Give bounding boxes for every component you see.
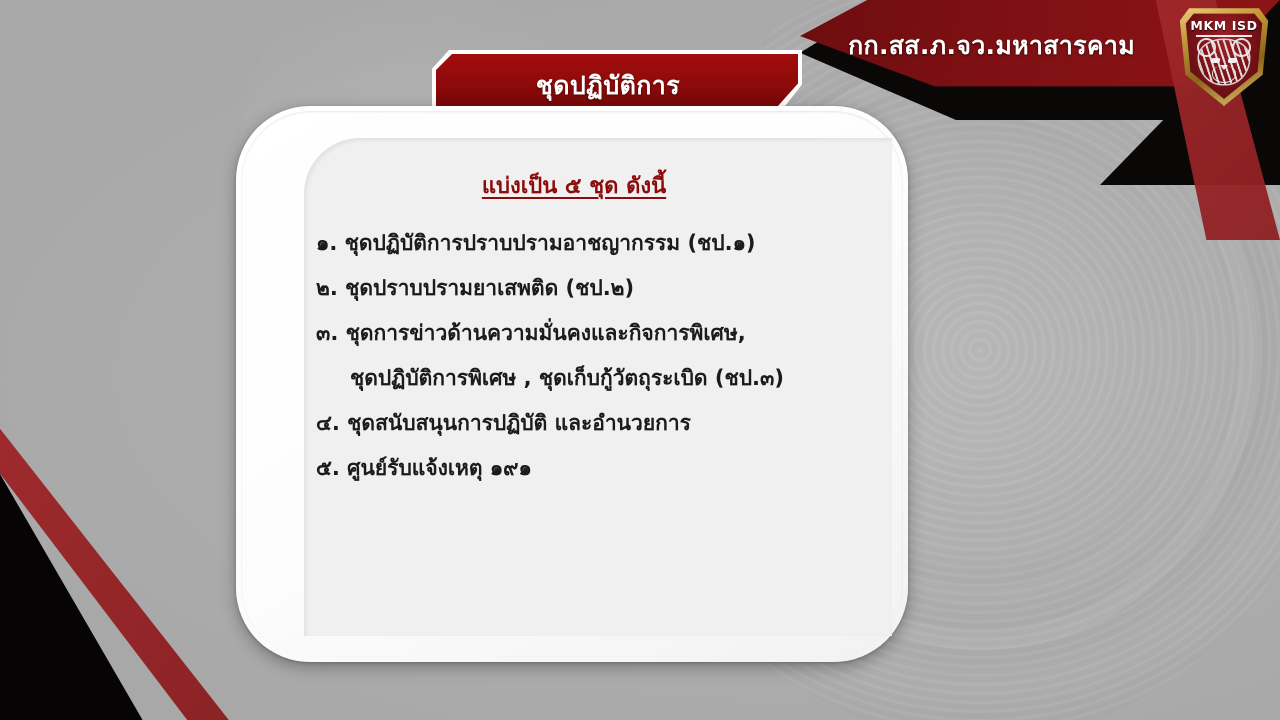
tiger-eye-right-icon	[1227, 58, 1237, 63]
list-item: ๒. ชุดปราบปรามยาเสพติด (ชป.๒)	[316, 266, 872, 311]
list-item-line: ๒. ชุดปราบปรามยาเสพติด (ชป.๒)	[316, 276, 634, 300]
tiger-shield-icon: MKM ISD	[1178, 2, 1270, 106]
slide-root: กก.สส.ภ.จว.มหาสารคาม MKM ISD ชุดปฏิบัติก…	[0, 0, 1280, 720]
list-item-line: ๓. ชุดการข่าวด้านความมั่นคงและกิจการพิเศ…	[316, 321, 746, 345]
tiger-muzzle-icon	[1212, 66, 1236, 83]
content-panel: แบ่งเป็น ๕ ชุด ดังนี้ ๑. ชุดปฏิบัติการปร…	[304, 138, 892, 636]
list-item: ๕. ศูนย์รับแจ้งเหตุ ๑๙๑	[316, 446, 872, 491]
tiger-eye-left-icon	[1210, 58, 1220, 63]
logo-label: MKM ISD	[1178, 18, 1270, 37]
slide-title: ชุดปฏิบัติการ	[536, 66, 698, 106]
content-card: แบ่งเป็น ๕ ชุด ดังนี้ ๑. ชุดปฏิบัติการปร…	[236, 106, 908, 662]
list-item-line-continued: ชุดปฏิบัติการพิเศษ , ชุดเก็บกู้วัตถุระเบ…	[316, 356, 872, 401]
organization-title: กก.สส.ภ.จว.มหาสารคาม	[848, 26, 1135, 66]
list-item: ๓. ชุดการข่าวด้านความมั่นคงและกิจการพิเศ…	[316, 311, 872, 401]
list-item-line: ๕. ศูนย์รับแจ้งเหตุ ๑๙๑	[316, 456, 532, 480]
tiger-icon	[1192, 38, 1256, 92]
list-item-line: ๔. ชุดสนับสนุนการปฏิบัติ และอำนวยการ	[316, 411, 691, 435]
content-heading: แบ่งเป็น ๕ ชุด ดังนี้	[304, 168, 892, 203]
list-item-line: ๑. ชุดปฏิบัติการปราบปรามอาชญากรรม (ชป.๑)	[316, 231, 756, 255]
list-item: ๔. ชุดสนับสนุนการปฏิบัติ และอำนวยการ	[316, 401, 872, 446]
operation-unit-list: ๑. ชุดปฏิบัติการปราบปรามอาชญากรรม (ชป.๑)…	[304, 221, 892, 491]
list-item: ๑. ชุดปฏิบัติการปราบปรามอาชญากรรม (ชป.๑)	[316, 221, 872, 266]
